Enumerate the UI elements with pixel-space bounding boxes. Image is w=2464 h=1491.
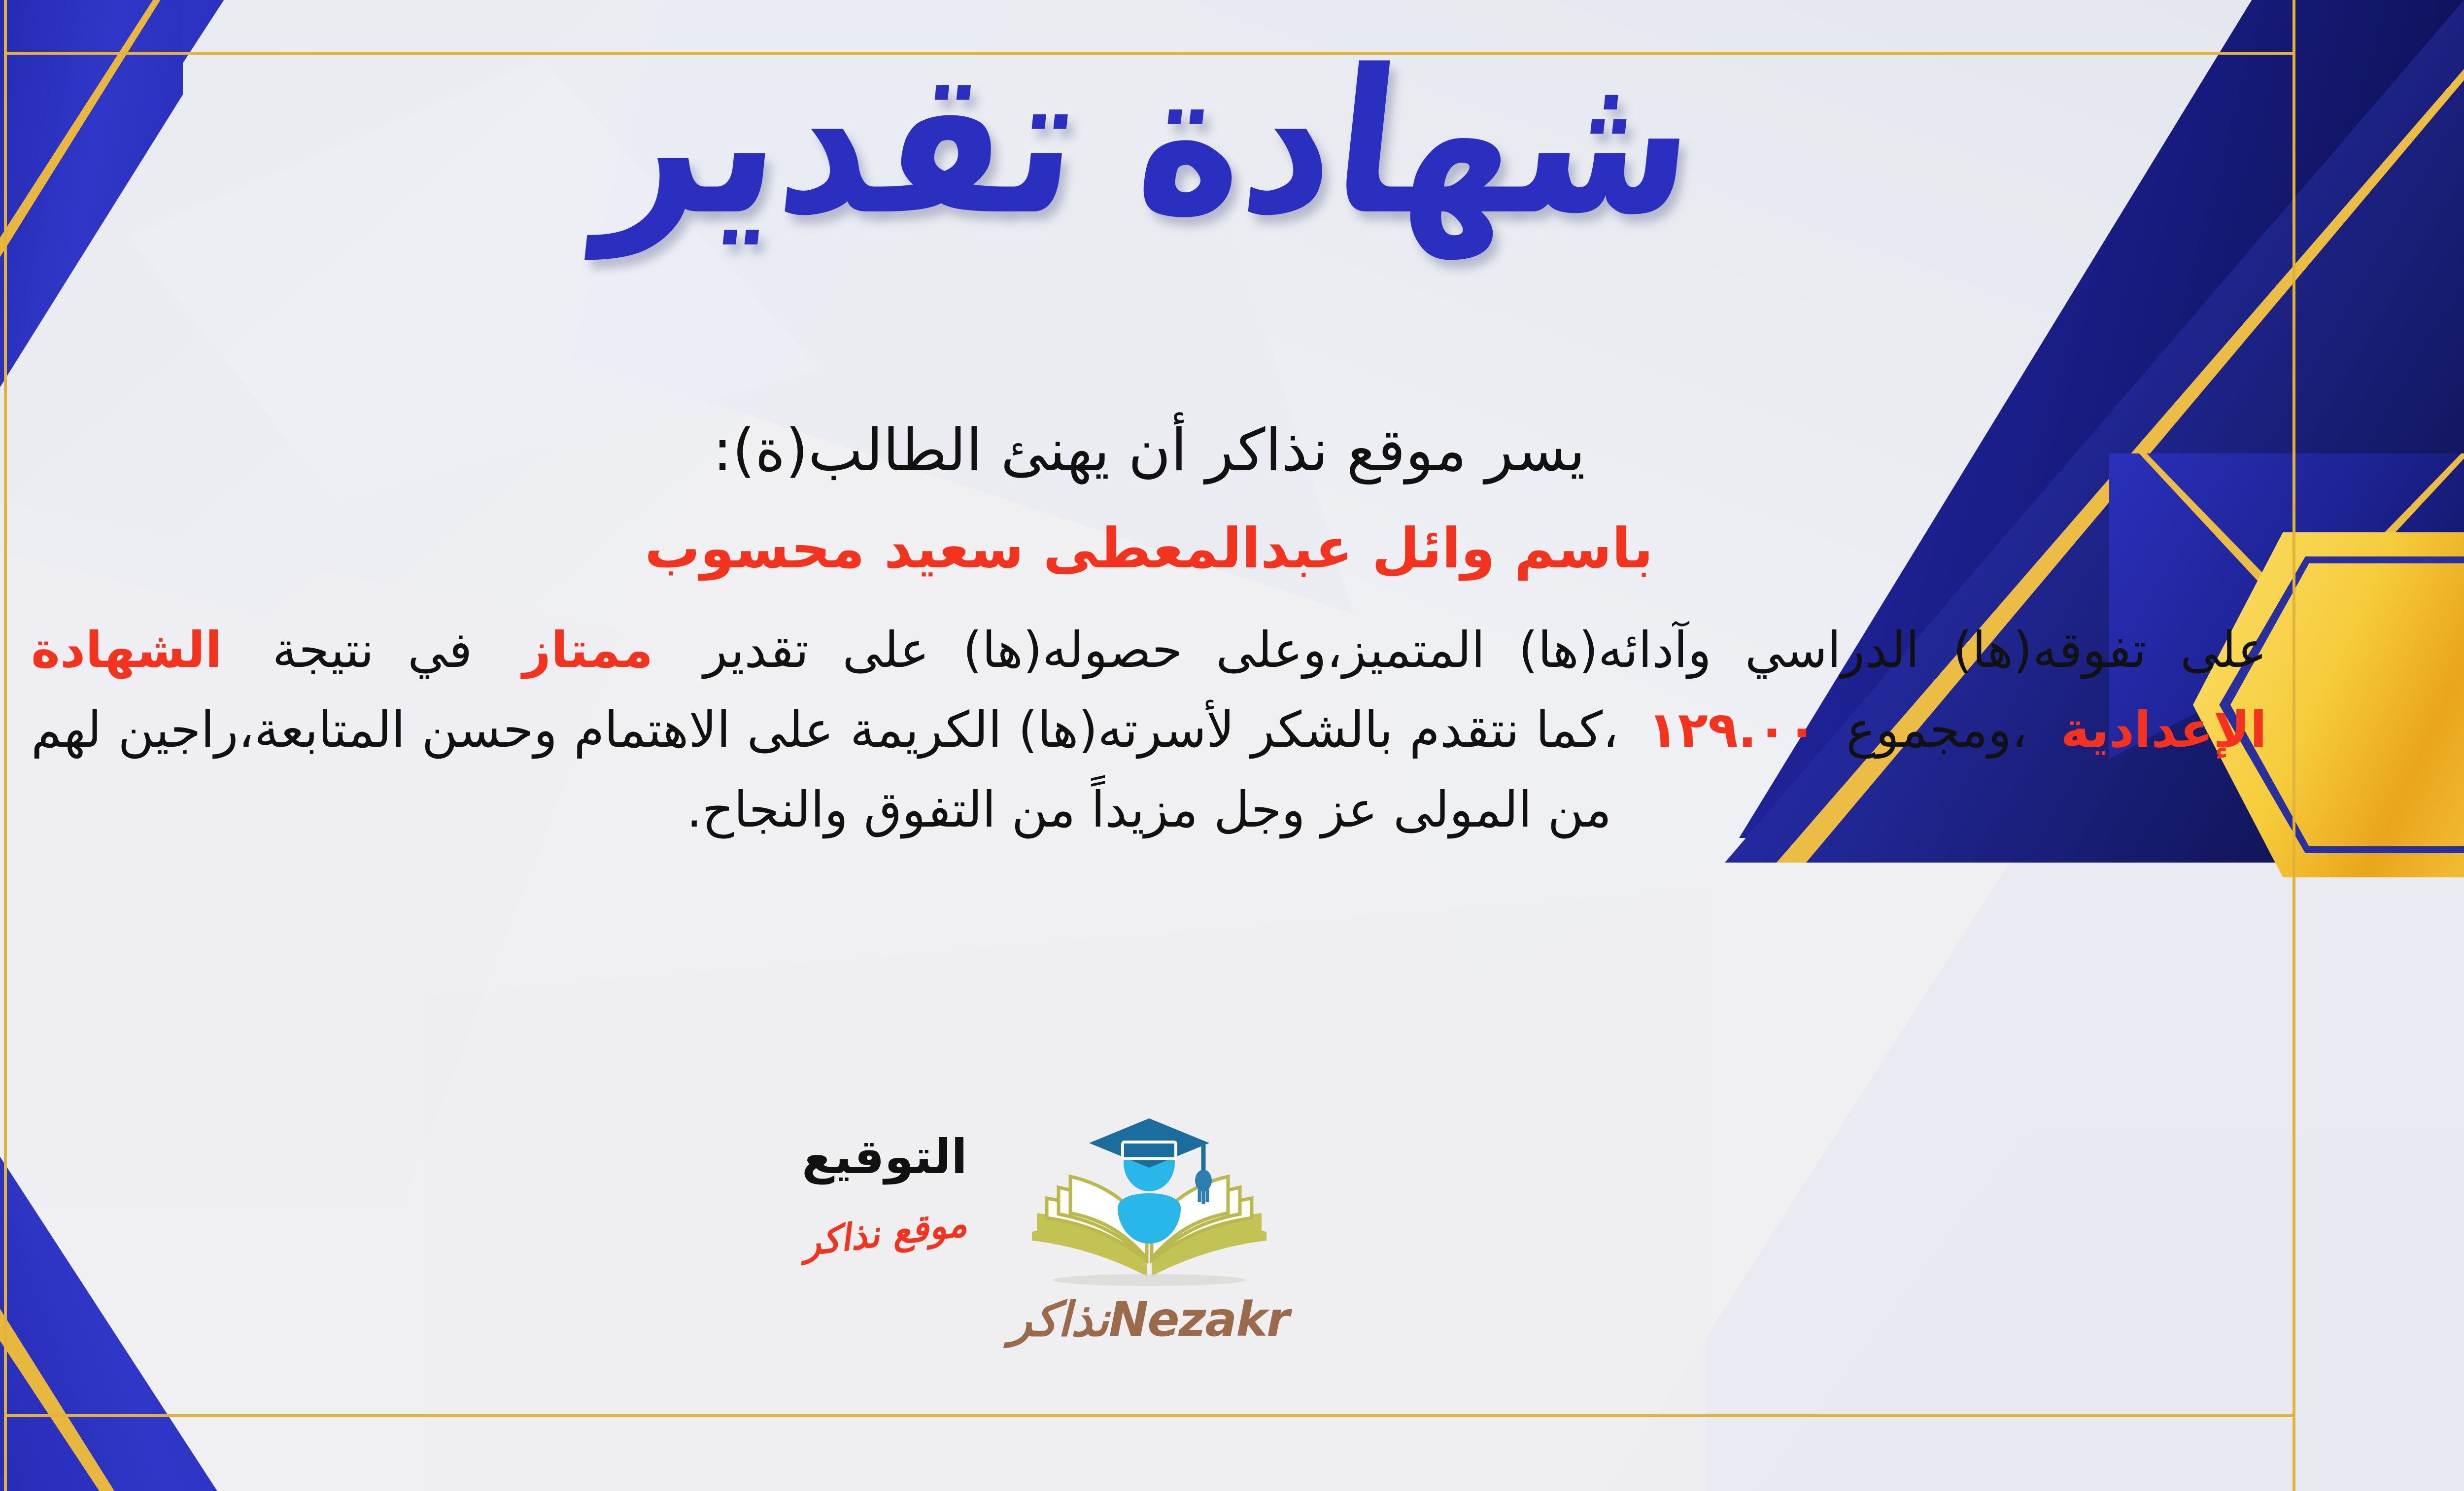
total-score-value: ١٢٩.٠٠ bbox=[1635, 701, 1830, 759]
certificate-footer: التوقيع موقع نذاكر bbox=[4, 1111, 2294, 1417]
brand-arabic-text: نذاكر bbox=[1009, 1292, 1109, 1347]
brand-latin-text: Nezakr bbox=[1109, 1292, 1289, 1347]
title-area: شهادة تقدير bbox=[0, 54, 2464, 232]
citation-paragraph: على تفوقه(ها) الدراسي وآدائه(ها) المتميز… bbox=[31, 610, 2267, 850]
signature-script: موقع نذاكر bbox=[800, 1202, 969, 1264]
certificate-body: يسر موقع نذاكر أن يهنئ الطالب(ة): باسم و… bbox=[31, 414, 2267, 850]
greeting-line: يسر موقع نذاكر أن يهنئ الطالب(ة): bbox=[31, 414, 2267, 487]
student-name: باسم وائل عبدالمعطى سعيد محسوب bbox=[31, 516, 2267, 582]
certificate-title: شهادة تقدير bbox=[594, 43, 1704, 242]
brand-wordmark: Nezakrنذاكر bbox=[977, 1292, 1322, 1347]
citation-segment-1: على تفوقه(ها) الدراسي وآدائه(ها) المتميز… bbox=[703, 621, 2266, 679]
citation-segment-3: ،ومجموع bbox=[1846, 701, 2027, 759]
gold-tick-top-right bbox=[2293, 0, 2295, 55]
gold-tick-bottom-right bbox=[2293, 1415, 2295, 1491]
certificate-page: شهادة تقدير يسر موقع نذاكر أن يهنئ الطال… bbox=[0, 0, 2464, 1491]
gold-tick-bottom-left bbox=[4, 1412, 7, 1491]
brand-logo: Nezakrنذاكر bbox=[977, 1111, 1322, 1347]
grade-value: ممتاز bbox=[506, 621, 670, 679]
graduate-book-logo-icon bbox=[1016, 1111, 1282, 1289]
citation-segment-4: ،كما نتقدم بالشكر لأسرته(ها) الكريمة على… bbox=[31, 701, 1618, 838]
citation-segment-2: في نتيجة bbox=[273, 621, 473, 679]
gold-tick-top-left bbox=[4, 0, 7, 55]
